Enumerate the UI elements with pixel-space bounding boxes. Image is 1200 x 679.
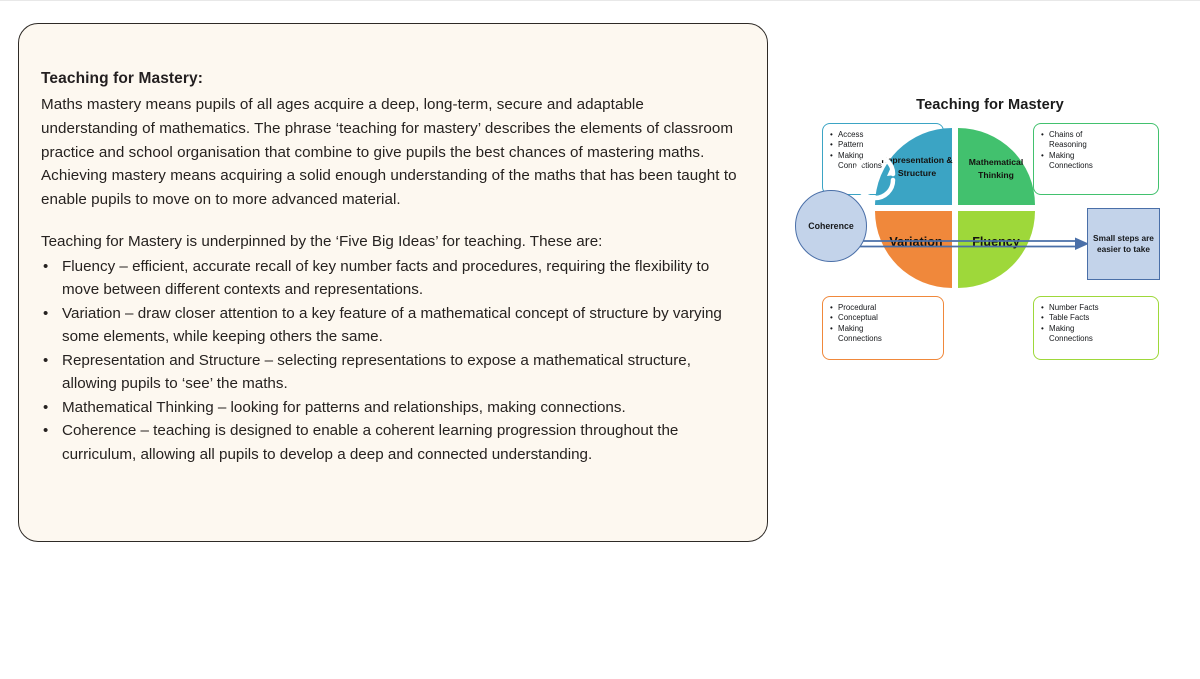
list-item: •Making Connections — [1041, 324, 1151, 345]
bullet-icon: • — [1041, 303, 1044, 313]
callout-list: •Chains of Reasoning •Making Connections — [1041, 130, 1151, 171]
bullet-icon: • — [1041, 324, 1044, 334]
five-big-ideas-list: •Fluency – efficient, accurate recall of… — [41, 255, 741, 467]
quadrant-label-representation: Representation & Structure — [881, 154, 953, 179]
coherence-node: Coherence — [795, 190, 867, 262]
list-item-text: Pattern — [838, 140, 863, 149]
bullet-icon: • — [43, 396, 48, 420]
bullet-icon: • — [43, 255, 48, 279]
list-item-text: Mathematical Thinking – looking for patt… — [62, 399, 626, 416]
page-title: Teaching for Mastery: — [41, 70, 741, 88]
list-item: •Fluency – efficient, accurate recall of… — [41, 255, 741, 302]
list-item: •Chains of Reasoning — [1041, 130, 1151, 151]
list-item: •Procedural — [830, 303, 936, 313]
intro-paragraph: Maths mastery means pupils of all ages a… — [41, 93, 741, 212]
list-item-text: Coherence – teaching is designed to enab… — [62, 422, 678, 463]
bullet-icon: • — [1041, 151, 1044, 161]
list-item-text: Procedural — [838, 303, 876, 312]
list-item: •Number Facts — [1041, 303, 1151, 313]
paragraph-spacer — [41, 212, 741, 230]
list-item: •Representation and Structure – selectin… — [41, 349, 741, 396]
list-item-text: Conceptual — [838, 313, 878, 322]
teaching-for-mastery-text-panel: Teaching for Mastery: Maths mastery mean… — [18, 23, 768, 542]
callout-mathematical-thinking: •Chains of Reasoning •Making Connections — [1033, 123, 1159, 195]
list-item: •Mathematical Thinking – looking for pat… — [41, 396, 741, 420]
teaching-for-mastery-diagram: Teaching for Mastery •Access •Pattern •M… — [795, 97, 1185, 392]
bullet-icon: • — [43, 302, 48, 326]
list-item-text: Making Connections — [838, 324, 882, 343]
list-item-text: Variation – draw closer attention to a k… — [62, 305, 722, 346]
bullet-icon: • — [1041, 130, 1044, 140]
list-item-text: Table Facts — [1049, 313, 1089, 322]
bullet-icon: • — [830, 324, 833, 334]
callout-fluency: •Number Facts •Table Facts •Making Conne… — [1033, 296, 1159, 360]
outcome-node: Small steps are easier to take — [1087, 208, 1160, 280]
callout-list: •Number Facts •Table Facts •Making Conne… — [1041, 303, 1151, 344]
callout-variation: •Procedural •Conceptual •Making Connecti… — [822, 296, 944, 360]
coherence-label: Coherence — [808, 221, 853, 231]
list-item-text: Making Connections — [1049, 151, 1093, 170]
list-item: •Conceptual — [830, 313, 936, 323]
flow-arrow-icon — [845, 237, 1095, 251]
bullet-icon: • — [830, 303, 833, 313]
list-item-text: Fluency – efficient, accurate recall of … — [62, 258, 709, 299]
list-item: •Coherence – teaching is designed to ena… — [41, 419, 741, 466]
list-item-text: Chains of Reasoning — [1049, 130, 1087, 149]
mastery-wheel: Representation & Structure Mathematical … — [875, 128, 1035, 288]
list-item-text: Representation and Structure – selecting… — [62, 352, 691, 393]
bullet-icon: • — [830, 140, 833, 150]
list-item: •Variation – draw closer attention to a … — [41, 302, 741, 349]
bullet-icon: • — [1041, 313, 1044, 323]
list-item-text: Making Connections — [1049, 324, 1093, 343]
bullet-icon: • — [830, 313, 833, 323]
callout-list: •Procedural •Conceptual •Making Connecti… — [830, 303, 936, 344]
list-item: •Making Connections — [1041, 151, 1151, 172]
bullet-icon: • — [830, 130, 833, 140]
bullet-icon: • — [830, 151, 833, 161]
list-item: •Making Connections — [830, 324, 936, 345]
list-item-text: Access — [838, 130, 863, 139]
diagram-title: Teaching for Mastery — [795, 97, 1185, 113]
bullet-icon: • — [43, 419, 48, 443]
five-big-ideas-intro: Teaching for Mastery is underpinned by t… — [41, 230, 741, 254]
outcome-label: Small steps are easier to take — [1092, 233, 1155, 256]
slide-canvas: Teaching for Mastery: Maths mastery mean… — [0, 0, 1200, 679]
list-item-text: Number Facts — [1049, 303, 1099, 312]
quadrant-label-mathematical-thinking: Mathematical Thinking — [960, 156, 1032, 181]
list-item: •Table Facts — [1041, 313, 1151, 323]
bullet-icon: • — [43, 349, 48, 373]
